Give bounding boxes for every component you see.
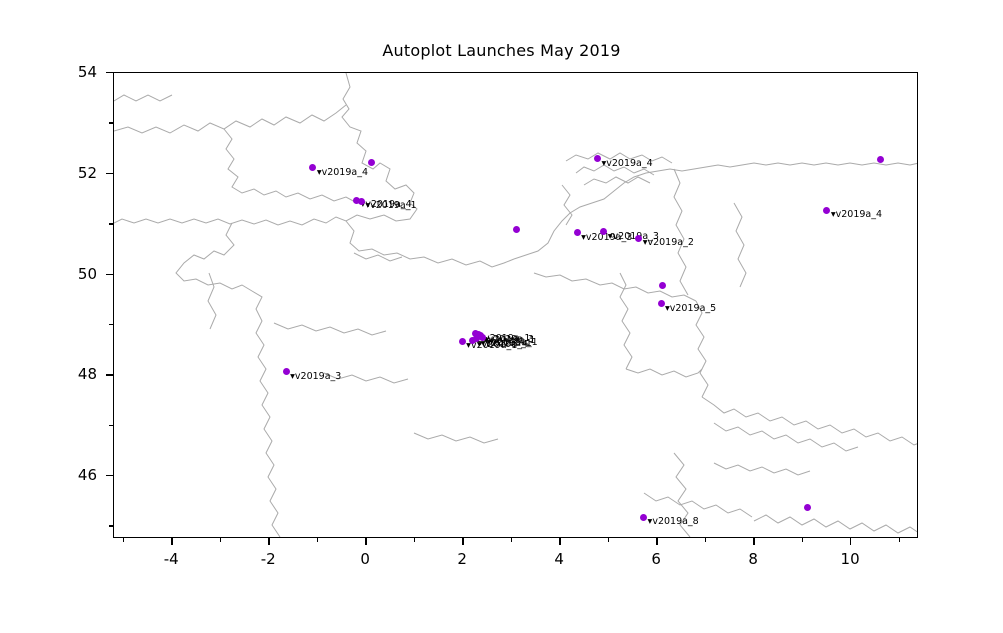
launch-marker-label: ▾v2019a_1 xyxy=(365,201,416,210)
x-axis-tick-minor xyxy=(511,538,512,542)
launch-marker-label: ▾v2019a_4 xyxy=(601,159,652,168)
y-axis-tick-minor xyxy=(109,223,113,224)
x-axis-tick-label: 6 xyxy=(636,550,676,568)
x-axis-tick-minor xyxy=(220,538,221,542)
launch-marker-label: ▾v2019a_3 xyxy=(290,372,341,381)
map-axes: ▾v2019a_4▾v2019a_4▾v2019a_1▾v2019a_4▾v20… xyxy=(113,72,918,538)
x-axis-tick-major xyxy=(365,538,366,545)
x-axis-tick-minor xyxy=(414,538,415,542)
y-axis-tick-major xyxy=(106,173,113,174)
y-axis-tick-major xyxy=(106,72,113,73)
x-axis-tick-minor xyxy=(317,538,318,542)
y-axis-tick-label: 50 xyxy=(57,265,97,283)
launch-marker xyxy=(804,504,811,511)
x-axis-tick-label: 10 xyxy=(830,550,870,568)
x-axis-tick-major xyxy=(753,538,754,545)
launch-marker xyxy=(358,198,365,205)
launch-marker-label: ▾v2019a_4 xyxy=(831,210,882,219)
launch-marker-label: ▾v2019a_8 xyxy=(648,517,699,526)
x-axis-tick-minor xyxy=(705,538,706,542)
launch-marker xyxy=(574,229,581,236)
y-axis-tick-minor xyxy=(109,324,113,325)
launch-marker xyxy=(594,155,601,162)
launch-marker xyxy=(513,226,520,233)
y-axis-tick-label: 52 xyxy=(57,164,97,182)
launch-marker xyxy=(309,164,316,171)
launch-marker-label: ▾v2019a_2 xyxy=(643,238,694,247)
x-axis-tick-label: 8 xyxy=(733,550,773,568)
launch-marker xyxy=(469,337,476,344)
launch-marker xyxy=(635,235,642,242)
chart-title: Autoplot Launches May 2019 xyxy=(0,41,1003,60)
y-axis-tick-minor xyxy=(109,525,113,526)
launch-marker xyxy=(283,368,290,375)
x-axis-tick-label: 4 xyxy=(539,550,579,568)
x-axis-tick-label: 2 xyxy=(442,550,482,568)
x-axis-tick-major xyxy=(268,538,269,545)
x-axis-tick-label: 0 xyxy=(345,550,385,568)
launch-marker xyxy=(877,156,884,163)
x-axis-tick-major xyxy=(171,538,172,545)
x-axis-tick-major xyxy=(462,538,463,545)
x-axis-tick-major xyxy=(559,538,560,545)
launch-marker-label: ▾v2019a_4 xyxy=(317,168,368,177)
y-axis-tick-label: 46 xyxy=(57,466,97,484)
y-axis-tick-label: 54 xyxy=(57,63,97,81)
y-axis-tick-major xyxy=(106,274,113,275)
x-axis-tick-label: -4 xyxy=(151,550,191,568)
launch-marker xyxy=(459,338,466,345)
y-axis-tick-label: 48 xyxy=(57,365,97,383)
launch-marker-label: ▾v2019a_5 xyxy=(665,304,716,313)
x-axis-tick-minor xyxy=(608,538,609,542)
y-axis-tick-minor xyxy=(109,122,113,123)
launch-marker xyxy=(659,282,666,289)
launch-marker xyxy=(658,300,665,307)
launch-marker-label: ▾v2019a_1 xyxy=(487,338,538,347)
x-axis-tick-label: -2 xyxy=(248,550,288,568)
x-axis-tick-minor xyxy=(802,538,803,542)
launch-marker xyxy=(640,514,647,521)
scatter-points: ▾v2019a_4▾v2019a_4▾v2019a_1▾v2019a_4▾v20… xyxy=(114,73,918,538)
y-axis-tick-minor xyxy=(109,425,113,426)
x-axis-tick-major xyxy=(656,538,657,545)
y-axis-tick-major xyxy=(106,374,113,375)
launch-marker xyxy=(823,207,830,214)
x-axis-tick-major xyxy=(850,538,851,545)
figure: Autoplot Launches May 2019 xyxy=(0,0,1003,633)
x-axis-tick-minor xyxy=(899,538,900,542)
launch-marker xyxy=(368,159,375,166)
x-axis-tick-minor xyxy=(123,538,124,542)
y-axis-tick-major xyxy=(106,475,113,476)
